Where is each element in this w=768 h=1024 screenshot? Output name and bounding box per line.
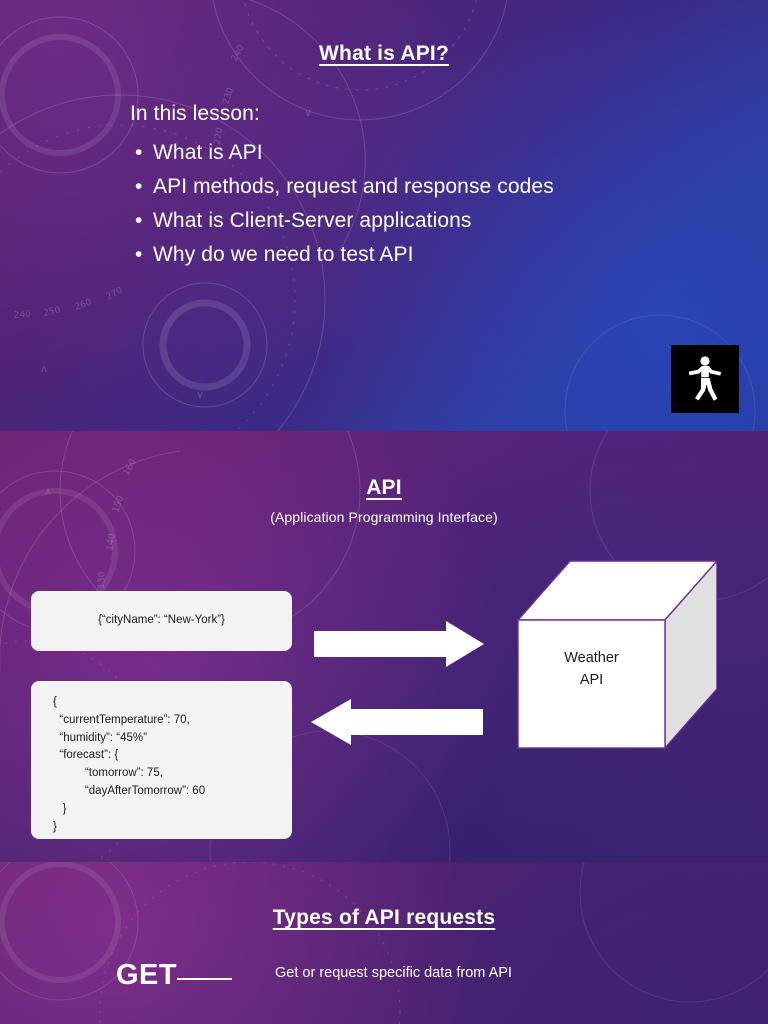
karate-figure-icon <box>683 354 727 404</box>
lesson-intro: In this lesson: <box>130 102 768 126</box>
get-method-row: GET Get or request specific data from AP… <box>0 963 768 1003</box>
cube-label: Weather API <box>517 647 666 692</box>
svg-text:250: 250 <box>43 306 62 319</box>
request-payload-box: {“cityName”: “New-York”} <box>31 591 292 651</box>
get-method-name: GET <box>116 959 177 992</box>
svg-text:240: 240 <box>13 310 31 321</box>
svg-text:270: 270 <box>105 286 125 303</box>
request-arrow-label: Request <box>371 633 414 645</box>
response-payload-box: { “currentTemperature”: 70, “humidity”: … <box>31 681 292 839</box>
bullet-item: API methods, request and response codes <box>133 170 768 204</box>
cube-label-line2: API <box>517 669 666 691</box>
get-connector-line <box>177 978 232 980</box>
cube-label-line1: Weather <box>517 647 666 669</box>
bullet-item: Why do we need to test API <box>133 238 768 272</box>
get-method-description: Get or request specific data from API <box>275 965 512 981</box>
karate-logo <box>671 345 739 413</box>
response-arrow-label: Response <box>371 711 423 723</box>
svg-text:∨: ∨ <box>196 388 204 401</box>
bullet-item: What is API <box>133 136 768 170</box>
slide-types-of-api-requests: Types of API requests GET Get or request… <box>0 862 768 1024</box>
slide2-title: API <box>0 431 768 500</box>
slide-api-diagram: 160 150 140 130 120 ∧ ∨ API (Application… <box>0 431 768 862</box>
slide3-title: Types of API requests <box>0 862 768 930</box>
bullet-item: What is Client-Server applications <box>133 204 768 238</box>
lesson-bullet-list: What is API API methods, request and res… <box>133 136 768 272</box>
slide-what-is-api: 240 230 220 270 260 250 240 160 ∧ ∨ ∨ Wh… <box>0 0 768 431</box>
slide-deck: 240 230 220 270 260 250 240 160 ∧ ∨ ∨ Wh… <box>0 0 768 1024</box>
slide2-subtitle: (Application Programming Interface) <box>0 509 768 525</box>
svg-text:∧: ∧ <box>40 362 48 375</box>
svg-text:260: 260 <box>74 297 94 312</box>
slide1-title: What is API? <box>0 0 768 66</box>
svg-text:130: 130 <box>97 571 108 589</box>
